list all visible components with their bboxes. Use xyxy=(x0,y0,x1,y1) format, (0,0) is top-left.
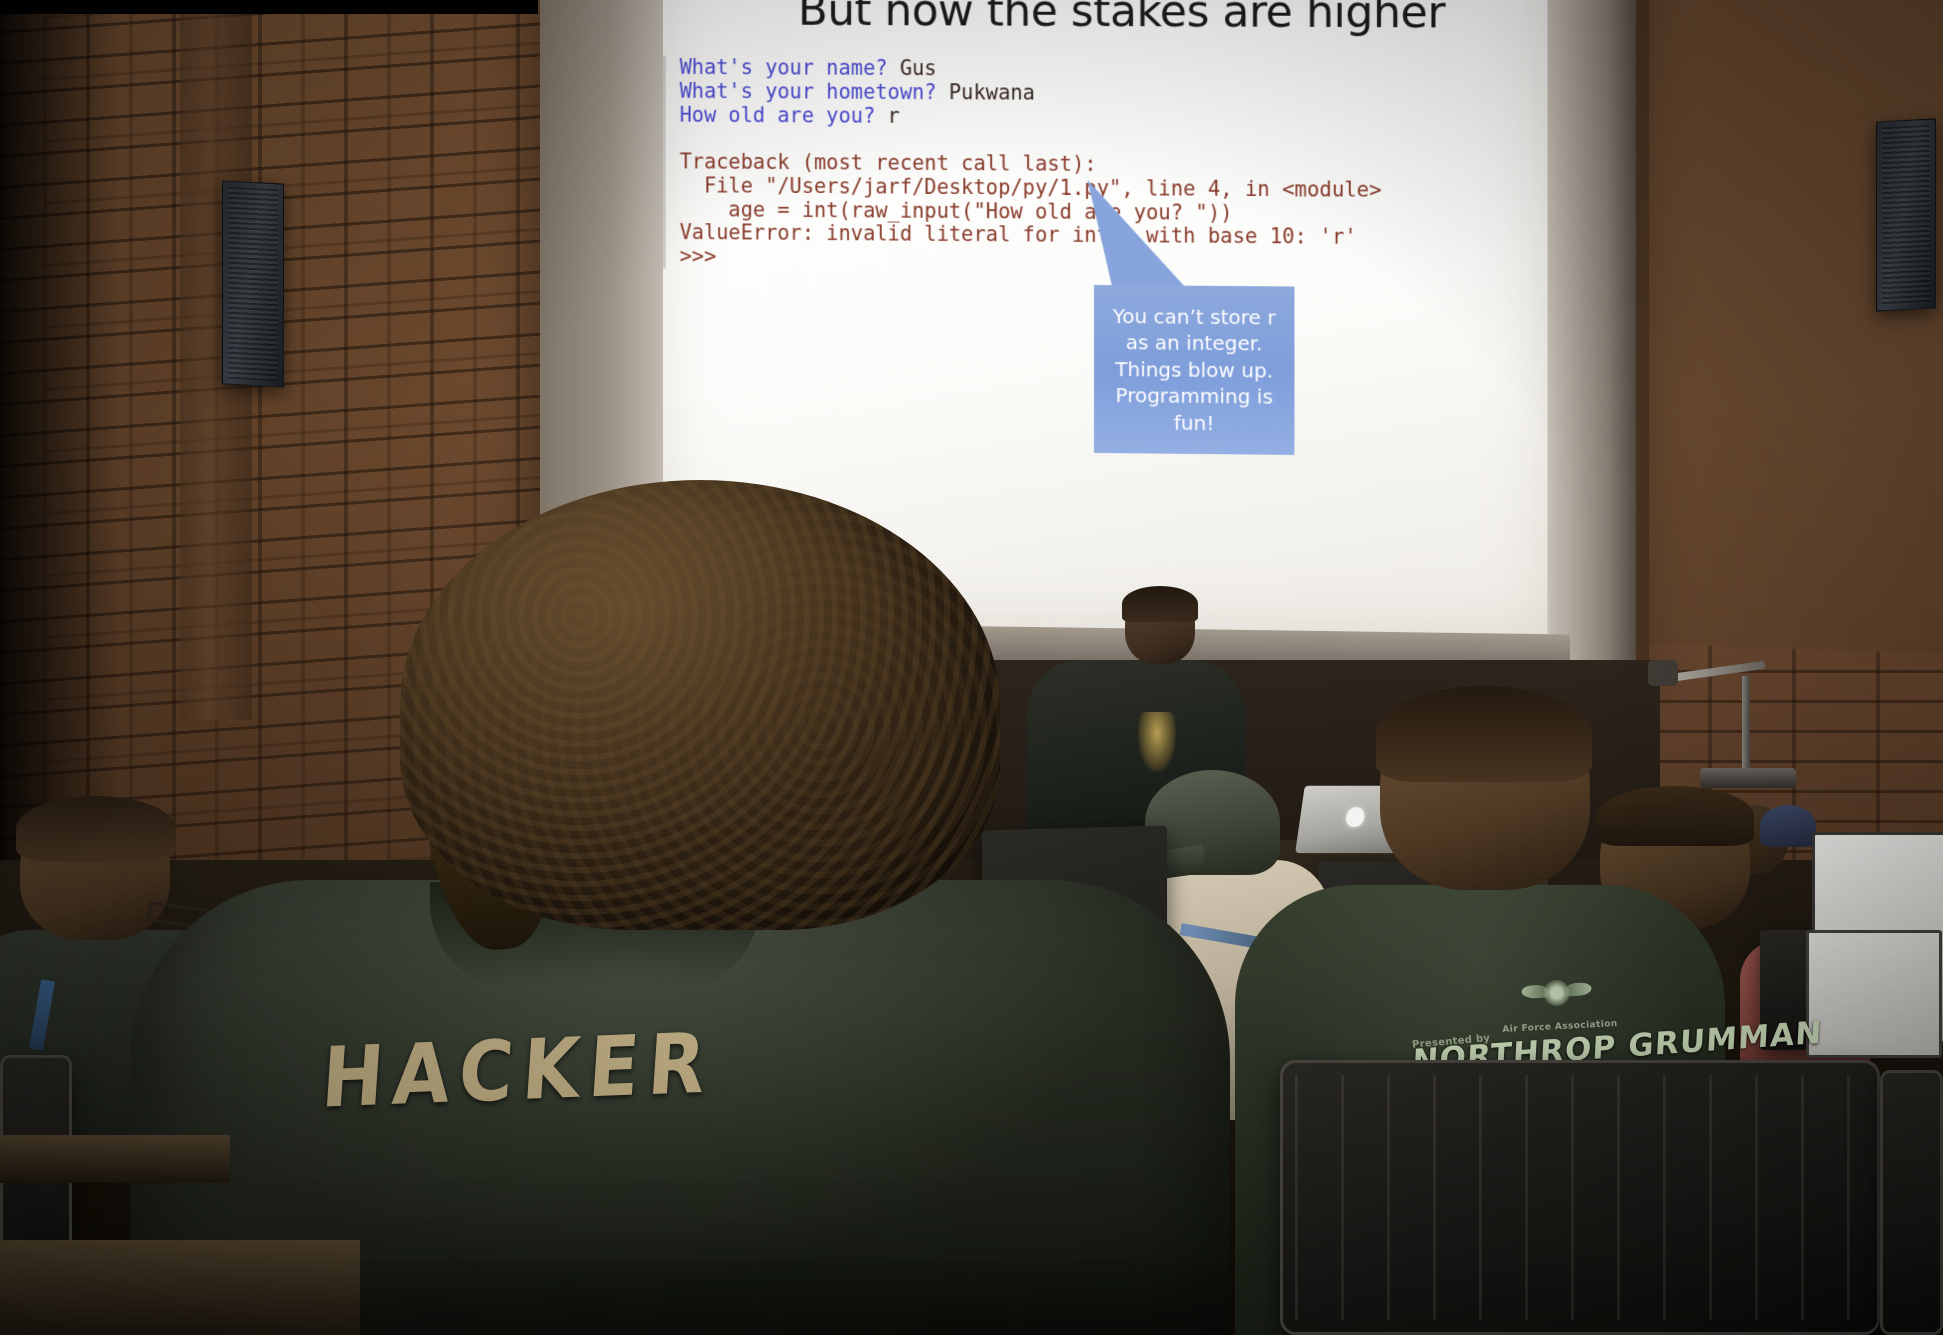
desk xyxy=(0,1135,230,1183)
chair xyxy=(1880,1070,1943,1335)
foreground-attendee-hair xyxy=(400,480,1000,930)
lecture-hall-photo: But now the stakes are higher What's you… xyxy=(0,0,1943,1335)
code-segment: What's your hometown? xyxy=(680,79,949,104)
slide-title: But now the stakes are higher xyxy=(722,0,1522,39)
wall-speaker-right xyxy=(1876,118,1936,311)
sponsor-shirt-attendee-hair xyxy=(1376,686,1592,782)
code-segment: What's your name? xyxy=(680,55,900,80)
laptop-screen xyxy=(1806,930,1942,1058)
wing-icon xyxy=(1565,982,1592,996)
microphone-head-icon xyxy=(1648,660,1678,686)
back-attendee-cap xyxy=(1760,805,1816,847)
code-segment: How old are you? xyxy=(680,102,888,127)
code-segment: >>> xyxy=(680,244,717,268)
code-segment: ValueError: invalid literal for int() wi… xyxy=(680,220,1357,249)
shirt-hacker-text: HACKER xyxy=(275,1013,761,1128)
slide-callout-bubble: You can’t store r as an integer. Things … xyxy=(1094,285,1294,455)
microphone-base xyxy=(1700,768,1796,788)
code-segment: Traceback (most recent call last): xyxy=(680,150,1097,176)
code-segment: r xyxy=(888,103,900,127)
speaker-grill xyxy=(228,187,278,382)
code-segment: Gus xyxy=(900,56,937,80)
code-segment: Pukwana xyxy=(949,80,1035,104)
desk xyxy=(0,1240,360,1335)
chair-slats xyxy=(1295,1075,1865,1320)
apple-logo-icon xyxy=(1345,807,1365,827)
photo-top-border xyxy=(0,0,538,14)
screen-edge-right xyxy=(1540,0,1636,671)
presenter-shirt-graphic xyxy=(1138,712,1176,772)
chair xyxy=(1280,1060,1880,1335)
microphone-pole xyxy=(1742,676,1750,772)
presenter-hair xyxy=(1122,586,1198,622)
air-force-association-logo-icon xyxy=(1521,976,1593,1022)
left-attendee-hair xyxy=(16,796,176,862)
wall-speaker-left xyxy=(222,180,284,387)
speaker-grill xyxy=(1882,125,1930,306)
red-shirt-attendee-hair xyxy=(1596,786,1754,846)
